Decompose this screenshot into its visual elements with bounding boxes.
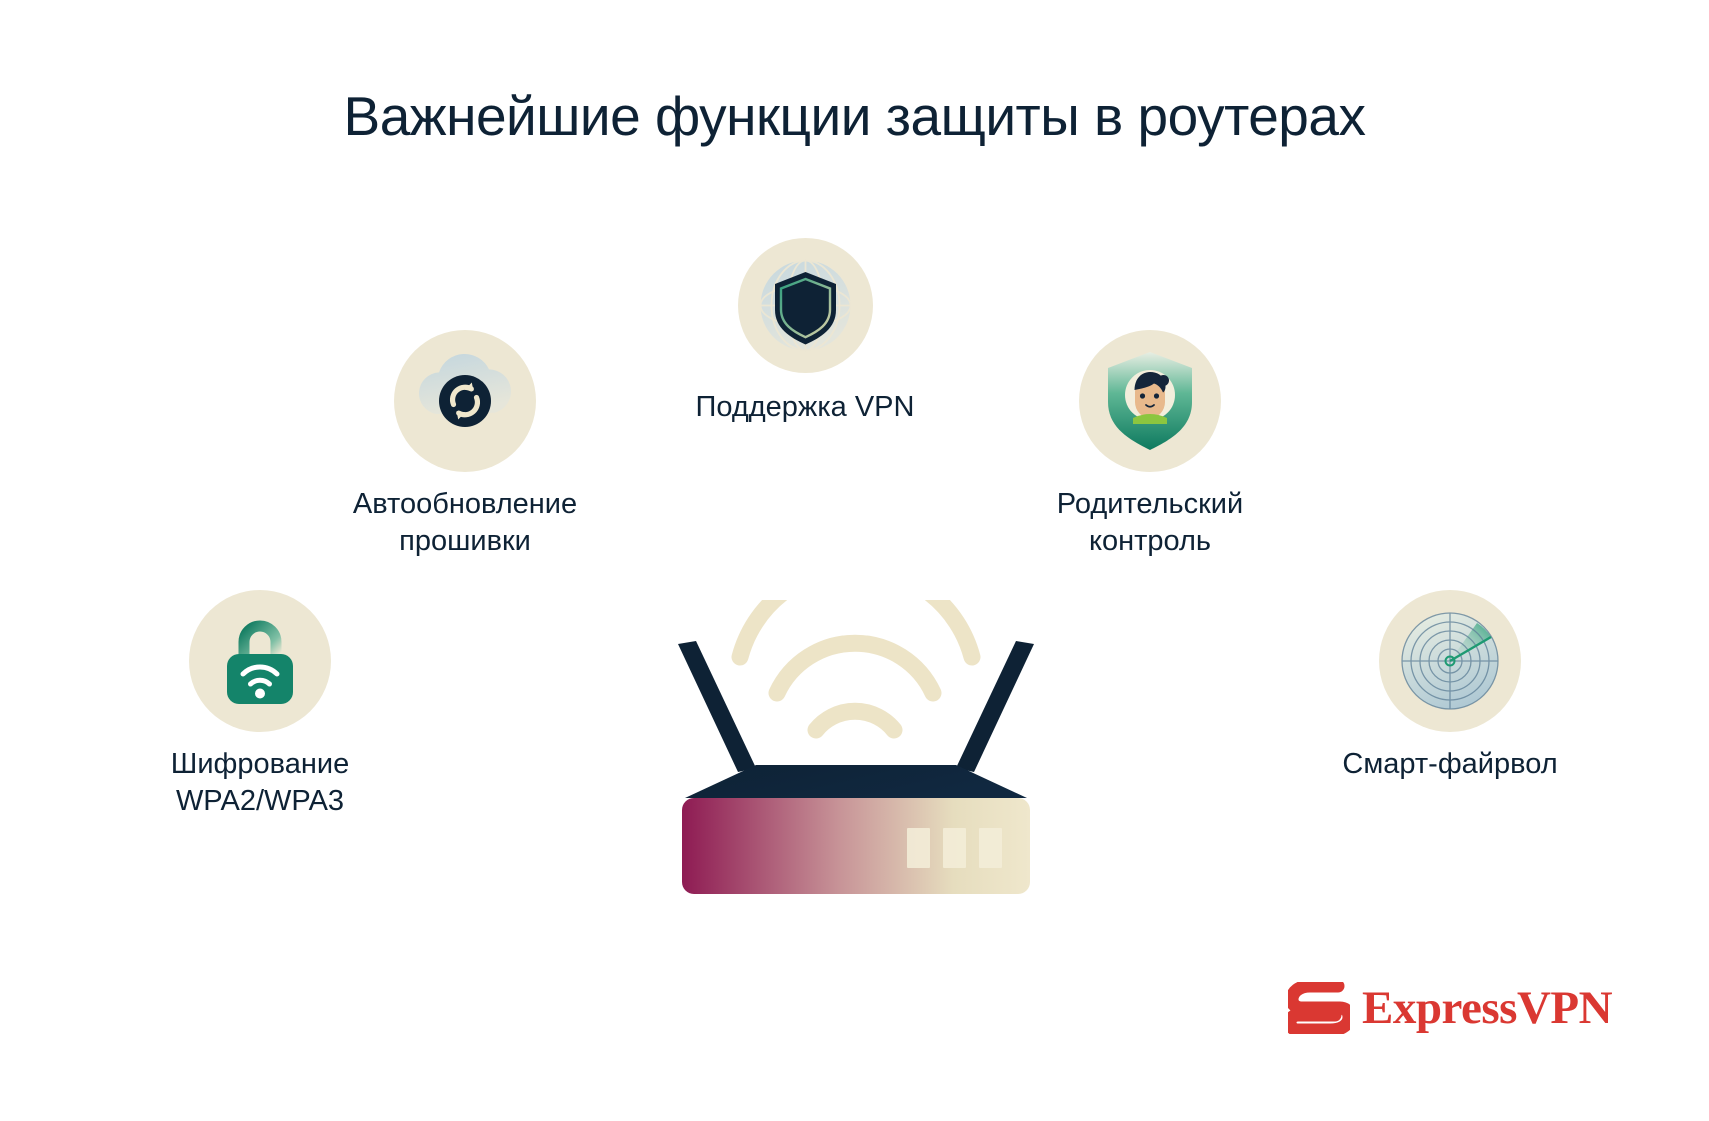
radar-icon (1379, 590, 1521, 732)
globe-shield-icon (738, 238, 873, 373)
expressvpn-wordmark: ExpressVPN (1362, 985, 1612, 1032)
feature-label: Шифрование WPA2/WPA3 (50, 746, 470, 820)
shield-child-icon (1079, 330, 1221, 472)
feature-label: Автообновление прошивки (255, 486, 675, 560)
page-title: Важнейшие функции защиты в роутерах (0, 84, 1709, 148)
wifi-router-illustration (670, 600, 1070, 910)
feature-encryption: Шифрование WPA2/WPA3 (50, 590, 470, 820)
expressvpn-logo: ExpressVPN (1288, 975, 1588, 1041)
feature-label: Смарт-файрвол (1240, 746, 1660, 783)
cloud-refresh-icon (394, 330, 536, 472)
padlock-wifi-icon (189, 590, 331, 732)
feature-label: Родительский контроль (940, 486, 1360, 560)
expressvpn-e-mark-icon (1288, 982, 1350, 1034)
infographic-canvas: Важнейшие функции защиты в роутерах (0, 0, 1709, 1121)
feature-firewall: Смарт-файрвол (1240, 590, 1660, 783)
feature-parental: Родительский контроль (940, 330, 1360, 560)
